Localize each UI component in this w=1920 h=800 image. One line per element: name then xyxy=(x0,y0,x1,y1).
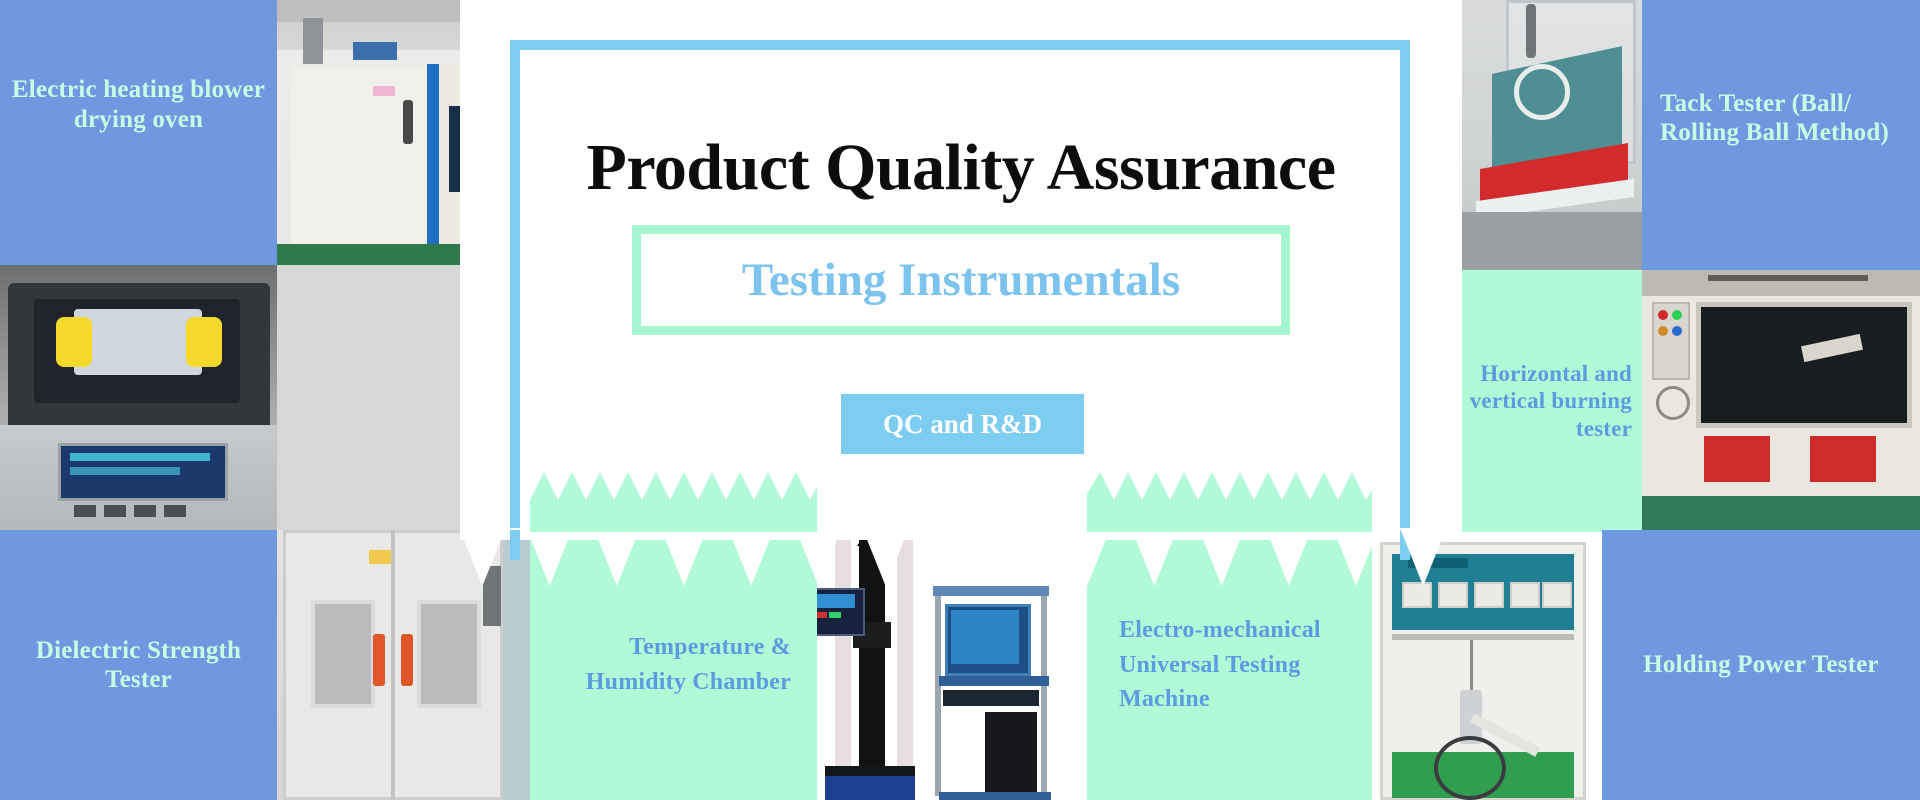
poster-canvas: Horizontal and vertical burning tester T… xyxy=(0,0,1920,800)
panel-burning-tester-label: Horizontal and vertical burning tester xyxy=(1462,360,1632,441)
panel-dielectric: Dielectric Strength Tester xyxy=(0,530,277,800)
photo-dielectric-strength-tester xyxy=(0,265,277,530)
panel-electric-oven-label: Electric heating blower drying oven xyxy=(8,75,269,134)
subtitle-text: Testing Instrumentals xyxy=(742,253,1180,307)
mint-zigzag-temperature-panel xyxy=(530,470,817,532)
panel-holding-power: Holding Power Tester xyxy=(1602,530,1920,800)
page-title: Product Quality Assurance xyxy=(460,130,1462,206)
photo-burning-tester xyxy=(1642,270,1920,532)
panel-electro-mechanical-label: Electro-mechanical Universal Testing Mac… xyxy=(1119,613,1372,717)
panel-burning-tester: Horizontal and vertical burning tester xyxy=(1462,270,1642,532)
card-zigzag-edge xyxy=(460,528,1462,590)
subtitle-box: Testing Instrumentals xyxy=(632,225,1290,335)
qc-and-rd-button-label: QC and R&D xyxy=(883,409,1042,440)
panel-temperature-humidity-label: Temperature & Humidity Chamber xyxy=(530,630,791,700)
panel-tack-tester-label: Tack Tester (Ball/ Rolling Ball Method) xyxy=(1660,89,1920,148)
panel-electric-oven: Electric heating blower drying oven xyxy=(0,0,277,265)
mint-zigzag-electro-panel xyxy=(1087,470,1372,532)
panel-dielectric-label: Dielectric Strength Tester xyxy=(10,636,267,695)
panel-tack-tester: Tack Tester (Ball/ Rolling Ball Method) xyxy=(1642,0,1920,270)
qc-and-rd-button[interactable]: QC and R&D xyxy=(841,394,1084,454)
photo-tack-tester xyxy=(1462,0,1642,270)
panel-holding-power-label: Holding Power Tester xyxy=(1643,650,1878,680)
